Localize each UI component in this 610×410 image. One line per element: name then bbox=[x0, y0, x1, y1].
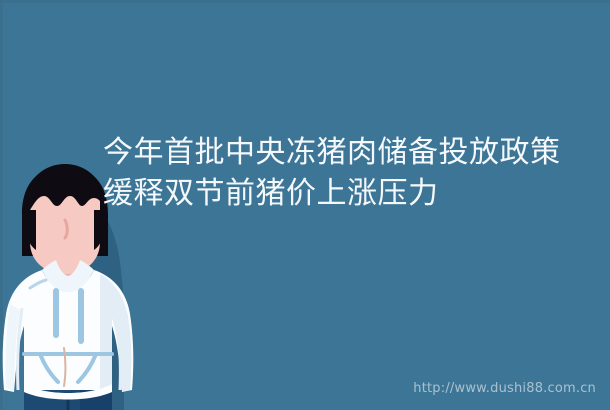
headline: 今年首批中央冻猪肉储备投放政策 缓释双节前猪价上涨压力 bbox=[103, 132, 583, 214]
headline-line-2: 缓释双节前猪价上涨压力 bbox=[103, 173, 583, 214]
drawstring-left bbox=[53, 288, 59, 338]
site-url-watermark: http://www.dushi88.com.cn bbox=[413, 381, 596, 396]
article-cover-banner: 今年首批中央冻猪肉储备投放政策 缓释双节前猪价上涨压力 http://www.d… bbox=[0, 0, 610, 410]
drawstring-right bbox=[78, 288, 84, 344]
headline-line-1: 今年首批中央冻猪肉储备投放政策 bbox=[103, 132, 583, 173]
banner-top-edge bbox=[0, 0, 610, 3]
